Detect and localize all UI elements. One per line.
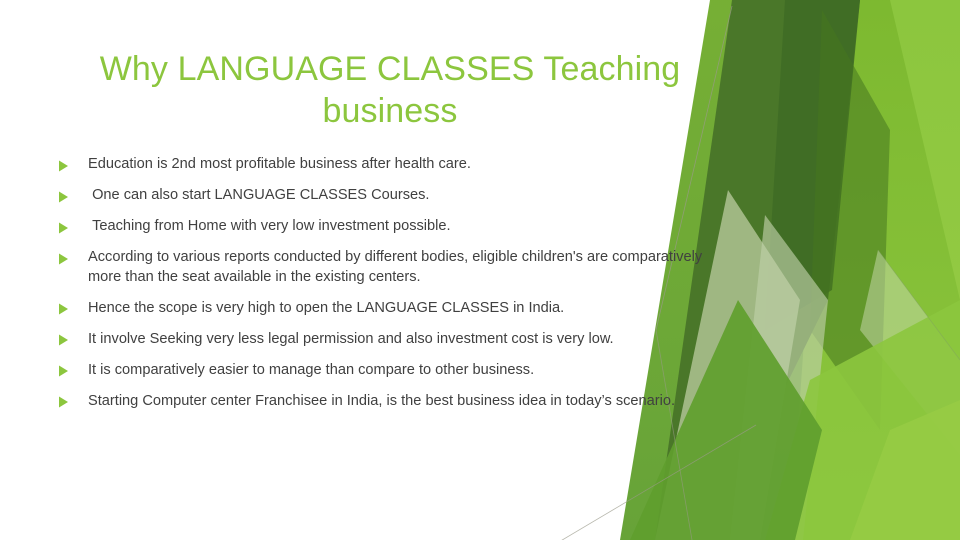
hairline-right-facet-edge [878, 250, 960, 360]
triangle-right-icon [58, 299, 88, 318]
list-item: Education is 2nd most profitable busines… [58, 155, 730, 175]
list-item-text: Teaching from Home with very low investm… [88, 217, 730, 237]
list-item: Starting Computer center Franchisee in I… [58, 392, 730, 412]
facet-pale-upper-right [860, 250, 960, 455]
triangle-right-icon [58, 248, 88, 267]
slide-title: Why LANGUAGE CLASSES Teaching business [60, 48, 720, 132]
facet-dark-shard [810, 10, 890, 430]
list-item: It is comparatively easier to manage tha… [58, 361, 730, 381]
facet-pale-sage-sliver [730, 215, 828, 540]
list-item: According to various reports conducted b… [58, 248, 730, 287]
list-item: Teaching from Home with very low investm… [58, 217, 730, 237]
list-item: Hence the scope is very high to open the… [58, 299, 730, 319]
facet-lower-sliver [850, 400, 960, 540]
bullet-list: Education is 2nd most profitable busines… [58, 155, 730, 423]
list-item-text: Starting Computer center Franchisee in I… [88, 392, 730, 412]
list-item-text: It is comparatively easier to manage tha… [88, 361, 730, 381]
list-item-text: One can also start LANGUAGE CLASSES Cour… [88, 186, 730, 206]
facet-lower-right-bright [765, 300, 960, 540]
triangle-right-icon [58, 392, 88, 411]
facet-bright-band [710, 0, 960, 540]
list-item-text: Education is 2nd most profitable busines… [88, 155, 730, 175]
triangle-right-icon [58, 155, 88, 174]
list-item: It involve Seeking very less legal permi… [58, 330, 730, 350]
triangle-right-icon [58, 217, 88, 236]
triangle-right-icon [58, 361, 88, 380]
list-item: One can also start LANGUAGE CLASSES Cour… [58, 186, 730, 206]
list-item-text: According to various reports conducted b… [88, 248, 730, 287]
facet-deep-wedge [765, 0, 860, 330]
facet-right-base [730, 0, 960, 540]
triangle-right-icon [58, 330, 88, 349]
triangle-right-icon [58, 186, 88, 205]
slide-canvas: Why LANGUAGE CLASSES Teaching business E… [0, 0, 960, 540]
list-item-text: Hence the scope is very high to open the… [88, 299, 730, 319]
list-item-text: It involve Seeking very less legal permi… [88, 330, 730, 350]
hairline-shallow-diagonal [560, 425, 756, 540]
